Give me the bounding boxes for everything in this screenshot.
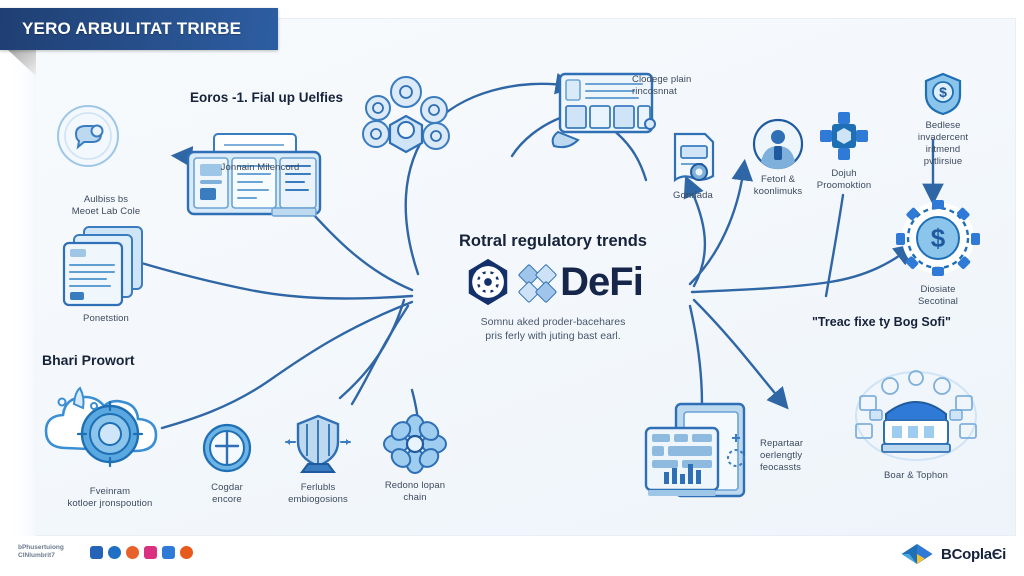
footer-credit: bPhusertuiong ClNlumbrit7 xyxy=(18,544,80,560)
heading-top-left: Eoros -1. Fial up Uelfies xyxy=(190,90,343,105)
node-comment-bubble[interactable] xyxy=(52,100,124,172)
hub-word: DeFi xyxy=(560,262,643,302)
bank-network-icon xyxy=(846,370,986,466)
footer-bar: bPhusertuiong ClNlumbrit7 ВCoplaЄi xyxy=(0,536,1024,576)
person-circle-icon xyxy=(752,118,804,170)
node-media-kit-caption-top: Aulbiss bs Meoet Lab Cole xyxy=(36,194,176,218)
hex-gear-icon xyxy=(463,257,513,307)
flower-chain-icon xyxy=(380,414,450,476)
compass-circle-icon xyxy=(196,420,258,478)
document-stack-icon xyxy=(58,223,154,309)
gear-grid-icon xyxy=(816,108,872,164)
cloud-target-icon xyxy=(32,378,188,482)
node-dashboard-left[interactable]: Jonnain Milencord xyxy=(184,132,336,174)
node-shield-trophy-caption: Ferlubls embiogosions xyxy=(272,482,364,506)
diamond-logo-icon xyxy=(900,542,934,566)
node-report-book-caption: Repartaar oerlengtly feocassts xyxy=(760,438,832,474)
svg-text:$: $ xyxy=(931,223,946,253)
coin-circuit-icon: $ xyxy=(894,198,982,280)
report-book-icon xyxy=(640,398,760,508)
dashboard-window-icon xyxy=(184,132,336,218)
slide-root: YERO ARBULITAT TRIRBE Eoros -1. Fial up … xyxy=(0,0,1024,576)
heading-mid-left: Bhari Prowort xyxy=(42,352,135,368)
heading-right-quote: "Treac fixe ty Bog Sofi" xyxy=(812,315,951,329)
node-flower-chain[interactable]: Redono lopan chain xyxy=(372,414,458,504)
node-badge-cluster[interactable] xyxy=(360,72,452,170)
footer-brand: ВCoplaЄi xyxy=(900,542,1006,566)
node-browser-window-caption: Clodege plain rincosnnat xyxy=(632,74,722,98)
hub-title: Rotral regulatory trends xyxy=(420,232,686,251)
node-certificate[interactable]: Gonriada xyxy=(656,130,730,202)
node-media-kit[interactable]: Aulbiss bs Meoet Lab Cole Ponetstion xyxy=(36,190,176,325)
shield-dollar-icon: $ xyxy=(922,72,964,116)
node-shield-dollar-caption: Bedlese invadercent iritmend pvtlirsiue xyxy=(896,120,990,168)
browser-icon[interactable] xyxy=(108,546,121,559)
node-certificate-caption: Gonriada xyxy=(656,190,730,202)
hub-subtitle: Somnu aked proder-bacehares pris ferly w… xyxy=(420,315,686,343)
node-gear-grid[interactable]: Dojuh Proomoktion xyxy=(806,108,882,192)
folder-icon[interactable] xyxy=(162,546,175,559)
brand-name: ВCoplaЄi xyxy=(941,546,1006,563)
four-diamonds-icon xyxy=(521,267,552,298)
footer-app-icons xyxy=(90,546,193,559)
diamond-4 xyxy=(535,280,558,303)
node-bank-network[interactable]: Boar & Tophon xyxy=(842,370,990,482)
ring-icon[interactable] xyxy=(180,546,193,559)
node-flower-chain-caption: Redono lopan chain xyxy=(372,480,458,504)
node-compass[interactable]: Cogdar encore xyxy=(186,420,268,506)
footer-left-group: bPhusertuiong ClNlumbrit7 xyxy=(18,544,193,560)
excel-icon[interactable] xyxy=(90,546,103,559)
slide-title-ribbon: YERO ARBULITAT TRIRBE xyxy=(0,8,278,50)
node-media-kit-caption: Ponetstion xyxy=(36,313,176,325)
node-browser-window[interactable]: Clodege plain rincosnnat xyxy=(546,66,664,156)
node-shield-dollar[interactable]: $ Bedlese invadercent iritmend pvtlirsiu… xyxy=(896,72,990,168)
shield-trophy-icon xyxy=(280,412,356,478)
node-cloud-target-caption: Fveinram kotloer jronspoution xyxy=(32,486,188,510)
hub-defi: Rotral regulatory trends DeFi Somnu aked… xyxy=(420,232,686,343)
speech-bubble-circle-icon xyxy=(52,100,124,172)
svg-text:$: $ xyxy=(939,84,947,100)
page-title: YERO ARBULITAT TRIRBE xyxy=(0,19,241,39)
node-coin-circuit-caption: Diosiate Secotinal xyxy=(890,284,986,308)
node-coin-circuit[interactable]: $ Diosiate Secotinal xyxy=(890,198,986,308)
node-dashboard-left-caption: Jonnain Milencord xyxy=(184,162,336,174)
node-cloud-target[interactable]: Fveinram kotloer jronspoution xyxy=(32,378,188,510)
messenger-icon[interactable] xyxy=(144,546,157,559)
node-gear-grid-caption: Dojuh Proomoktion xyxy=(806,168,882,192)
node-bank-network-caption: Boar & Tophon xyxy=(842,470,990,482)
node-report-book[interactable]: Repartaar oerlengtly feocassts xyxy=(640,398,838,508)
node-shield-trophy[interactable]: Ferlubls embiogosions xyxy=(272,412,364,506)
badge-cluster-icon xyxy=(360,72,452,170)
certificate-icon xyxy=(665,130,721,186)
firefox-icon[interactable] xyxy=(126,546,139,559)
node-compass-caption: Cogdar encore xyxy=(186,482,268,506)
